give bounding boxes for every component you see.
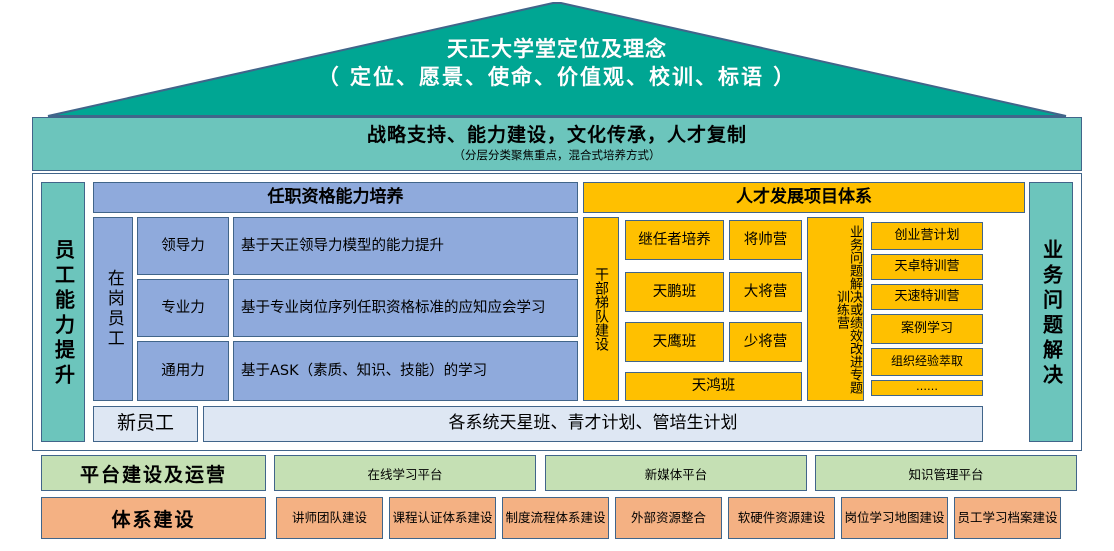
pillar-employee-capability: 员工能力提升 xyxy=(41,182,85,442)
system-item-0: 讲师团队建设 xyxy=(276,497,383,539)
capability-key-2: 通用力 xyxy=(137,341,229,401)
talent-col-a-2: 天鹰班 xyxy=(625,322,724,362)
talent-col-b-0: 将帅营 xyxy=(729,220,802,260)
roof-title-line2: （ 定位、愿景、使命、价值观、校训、标语 ） xyxy=(0,64,1114,92)
strategy-band-main: 战略支持、能力建设，文化传承，人才复制 xyxy=(367,125,747,147)
newcomer-content: 各系统天星班、青才计划、管培生计划 xyxy=(203,406,983,442)
page-title: 天正大学堂定位及理念 （ 定位、愿景、使命、价值观、校训、标语 ） xyxy=(0,36,1114,91)
system-item-5: 岗位学习地图建设 xyxy=(841,497,948,539)
capability-key-1: 专业力 xyxy=(137,279,229,337)
program-item-4: 组织经验萃取 xyxy=(871,348,983,376)
talent-col-b-2: 少将营 xyxy=(729,322,802,362)
talent-col-b-1: 大将营 xyxy=(729,272,802,312)
strategy-band: 战略支持、能力建设，文化传承，人才复制 （分层分类聚焦重点，混合式培养方式） xyxy=(32,117,1082,171)
right-section-header: 人才发展项目体系 xyxy=(583,182,1025,213)
program-item-2: 天速特训营 xyxy=(871,284,983,310)
right-group-label: 干部梯队建设 xyxy=(583,217,619,401)
program-item-3: 案例学习 xyxy=(871,314,983,344)
platform-item-1: 新媒体平台 xyxy=(545,455,807,491)
platform-item-0: 在线学习平台 xyxy=(274,455,536,491)
capability-key-0: 领导力 xyxy=(137,217,229,275)
talent-col-a-1: 天鹏班 xyxy=(625,272,724,312)
roof-title-line1: 天正大学堂定位及理念 xyxy=(0,36,1114,64)
platform-row-title: 平台建设及运营 xyxy=(41,455,266,491)
training-camp-label: 业务问题解决或绩效改进专题训练营 xyxy=(807,217,864,401)
talent-col-wide: 天鸿班 xyxy=(625,372,802,401)
system-item-4: 软硬件资源建设 xyxy=(728,497,835,539)
system-item-3: 外部资源整合 xyxy=(615,497,722,539)
program-item-1: 天卓特训营 xyxy=(871,254,983,280)
left-section-header: 任职资格能力培养 xyxy=(93,182,578,213)
system-item-1: 课程认证体系建设 xyxy=(389,497,496,539)
newcomer-label: 新员工 xyxy=(93,406,198,442)
system-item-2: 制度流程体系建设 xyxy=(502,497,609,539)
program-item-0: 创业营计划 xyxy=(871,222,983,250)
talent-col-a-0: 继任者培养 xyxy=(625,220,724,260)
left-group-label: 在岗员工 xyxy=(93,217,133,401)
pillar-business-problem: 业务问题解决 xyxy=(1029,182,1073,442)
program-item-5: …… xyxy=(871,380,983,396)
capability-desc-0: 基于天正领导力模型的能力提升 xyxy=(233,217,578,275)
capability-desc-1: 基于专业岗位序列任职资格标准的应知应会学习 xyxy=(233,279,578,337)
platform-item-2: 知识管理平台 xyxy=(815,455,1077,491)
strategy-band-sub: （分层分类聚焦重点，混合式培养方式） xyxy=(454,149,661,162)
capability-desc-2: 基于ASK（素质、知识、技能）的学习 xyxy=(233,341,578,401)
system-item-6: 员工学习档案建设 xyxy=(954,497,1061,539)
system-row-title: 体系建设 xyxy=(41,497,266,539)
